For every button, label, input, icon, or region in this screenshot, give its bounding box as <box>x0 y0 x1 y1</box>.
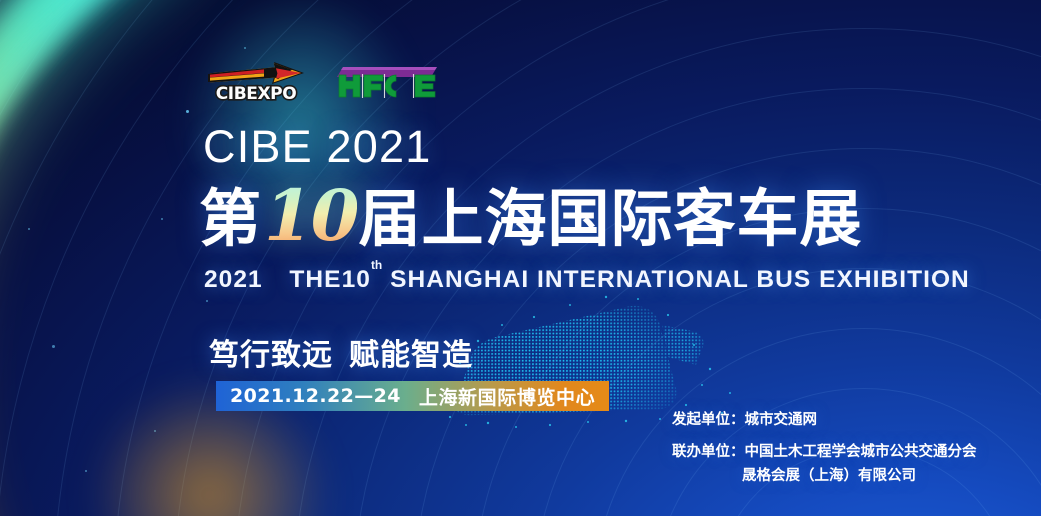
subtitle-rest: SHANGHAI INTERNATIONAL BUS EXHIBITION <box>390 266 970 293</box>
slogan-part-1: 笃行致远 <box>209 338 333 373</box>
svg-text:CIBEXPO: CIBEXPO <box>216 84 297 104</box>
slogan-part-2: 赋能智造 <box>349 338 473 373</box>
initiator-label: 发起单位： <box>672 412 745 428</box>
hfce-logo-icon <box>333 63 441 103</box>
coorganiser-value-2: 晟格会展（上海）有限公司 <box>672 464 977 488</box>
headline-prefix: 第 <box>199 188 262 250</box>
coorganiser-row: 联办单位：中国土木工程学会城市公共交通分会 <box>672 440 977 464</box>
coorganiser-label: 联办单位： <box>672 444 745 460</box>
coorganiser-value-1: 中国土木工程学会城市公共交通分会 <box>745 444 977 460</box>
cibexpo-logo-icon: CIBEXPO <box>204 60 309 105</box>
headline-edition-number: 10 <box>264 181 357 251</box>
logo-row: CIBEXPO <box>204 60 441 105</box>
event-date: 2021.12.22—24 <box>230 385 401 407</box>
slogan: 笃行致远赋能智造 <box>209 330 473 374</box>
organisers-block: 发起单位：城市交通网 联办单位：中国土木工程学会城市公共交通分会 晟格会展（上海… <box>672 408 977 488</box>
event-venue: 上海新国际博览中心 <box>419 383 595 410</box>
headline-chinese: 第 10 届上海国际客车展 <box>199 181 862 251</box>
subtitle-year: 2021 <box>204 266 263 293</box>
initiator-row: 发起单位：城市交通网 <box>672 408 977 432</box>
subtitle-ordinal: th <box>371 258 382 272</box>
poster-banner: CIBEXPO <box>0 0 1041 516</box>
date-venue-bar: 2021.12.22—24 上海新国际博览中心 <box>216 381 609 411</box>
initiator-value: 城市交通网 <box>745 412 818 428</box>
headline-suffix: 届上海国际客车展 <box>358 188 862 250</box>
subtitle-english: 2021 THE10th SHANGHAI INTERNATIONAL BUS … <box>204 266 970 294</box>
headline-year: CIBE 2021 <box>203 124 431 169</box>
subtitle-edition: THE10 <box>289 266 371 293</box>
